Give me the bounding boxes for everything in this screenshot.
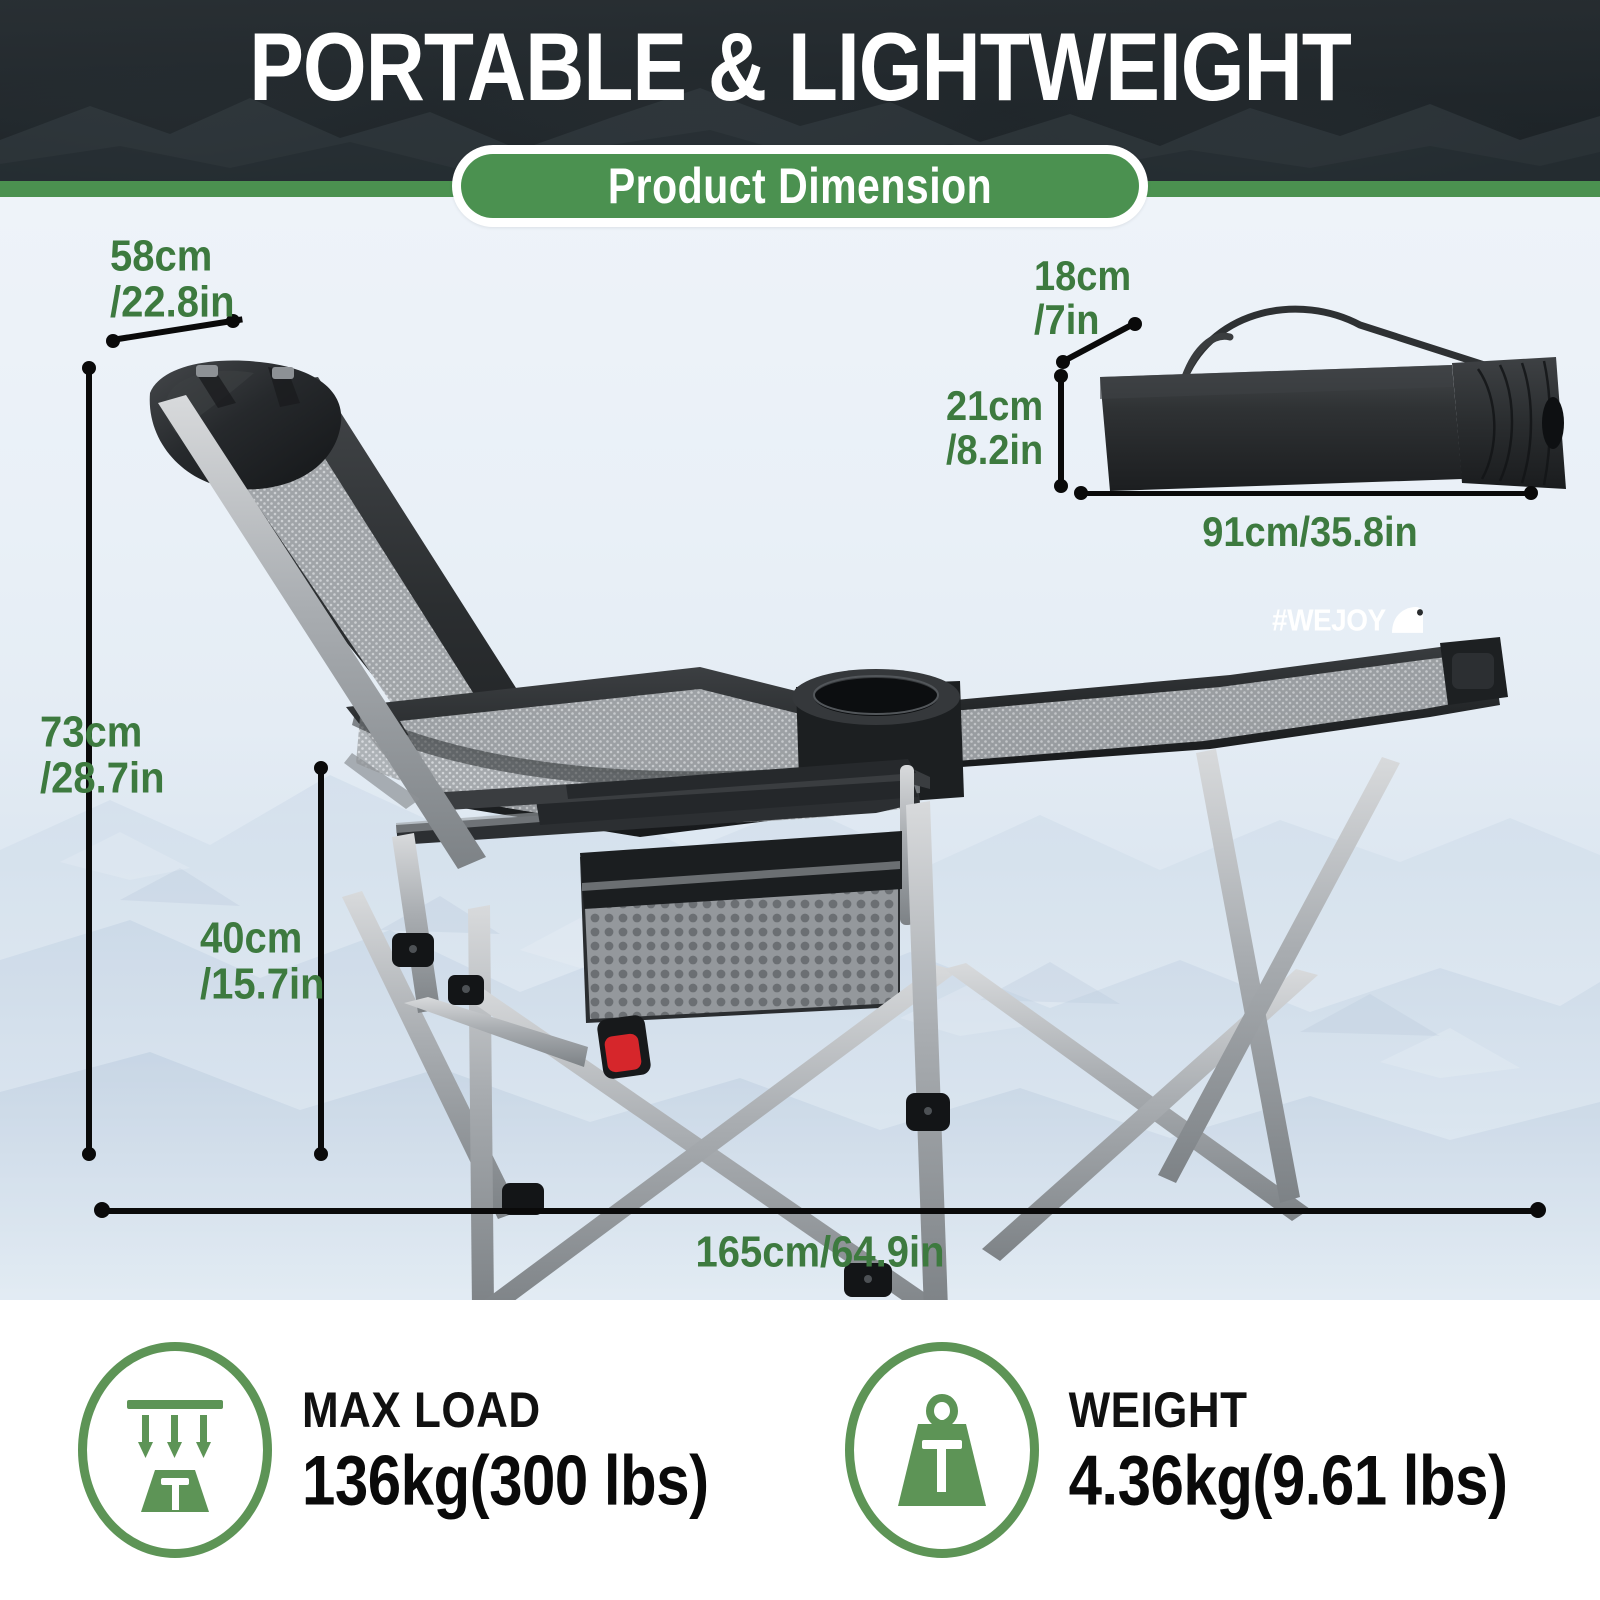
max-load-glyph xyxy=(117,1384,233,1516)
dimdot-chair-height-bottom xyxy=(82,1147,96,1161)
dimdot-seat-height-top xyxy=(314,761,328,775)
dim-label-bag-depth: 18cm /7in xyxy=(1034,255,1131,344)
max-load-icon xyxy=(78,1342,272,1558)
spec-weight: WEIGHT 4.36kg(9.61 lbs) xyxy=(845,1342,1508,1558)
infographic-canvas: PORTABLE & LIGHTWEIGHT xyxy=(0,0,1600,1600)
bag-brand-text: #WEJOY xyxy=(1272,604,1386,639)
dimline-chair-length xyxy=(100,1208,1540,1214)
spec-max-load: MAX LOAD 136kg(300 lbs) xyxy=(78,1342,709,1558)
max-load-value: 136kg(300 lbs) xyxy=(302,1443,709,1517)
max-load-label: MAX LOAD xyxy=(302,1385,709,1438)
dim-label-back-width: 58cm /22.8in xyxy=(110,233,235,326)
dimline-bag-height xyxy=(1058,375,1064,485)
dimdot-back-width-left xyxy=(106,334,120,348)
dimdot-chair-length-right xyxy=(1530,1202,1546,1218)
dim-label-seat-height: 40cm /15.7in xyxy=(200,915,325,1008)
product-dimension-badge: Product Dimension xyxy=(452,145,1148,227)
weight-value: 4.36kg(9.61 lbs) xyxy=(1069,1443,1508,1517)
max-load-text: MAX LOAD 136kg(300 lbs) xyxy=(302,1388,709,1511)
dimdot-bag-height-top xyxy=(1054,369,1068,383)
page-title: PORTABLE & LIGHTWEIGHT xyxy=(0,8,1600,129)
weight-glyph xyxy=(884,1384,1000,1516)
weight-icon xyxy=(845,1342,1039,1558)
dimdot-bag-length-left xyxy=(1074,486,1088,500)
bag-brand-logo: #WEJOY xyxy=(1272,599,1432,642)
dim-label-chair-height: 73cm /28.7in xyxy=(40,709,165,802)
dimdot-seat-height-bottom xyxy=(314,1147,328,1161)
weight-label: WEIGHT xyxy=(1069,1385,1508,1438)
dimdot-bag-length-right xyxy=(1524,486,1538,500)
spec-panel: MAX LOAD 136kg(300 lbs) WEIGHT 4.36kg(9.… xyxy=(0,1300,1600,1600)
product-scene: #WEJOY xyxy=(0,197,1600,1300)
dimdot-chair-height-top xyxy=(82,361,96,375)
dim-label-bag-length: 91cm/35.8in xyxy=(1060,511,1560,555)
wejoy-swoosh-icon xyxy=(1390,605,1424,637)
dimdot-bag-depth-low xyxy=(1056,355,1070,369)
carry-bag-product-image xyxy=(0,197,1600,1300)
dimline-bag-length xyxy=(1080,491,1536,496)
product-dimension-badge-inner: Product Dimension xyxy=(461,154,1139,218)
dim-label-chair-length: 165cm/64.9in xyxy=(570,1229,1070,1276)
weight-text: WEIGHT 4.36kg(9.61 lbs) xyxy=(1069,1388,1508,1511)
dim-label-bag-height: 21cm /8.2in xyxy=(946,385,1043,474)
product-dimension-badge-label: Product Dimension xyxy=(608,157,992,214)
dimdot-bag-height-bottom xyxy=(1054,479,1068,493)
dimdot-chair-length-left xyxy=(94,1202,110,1218)
